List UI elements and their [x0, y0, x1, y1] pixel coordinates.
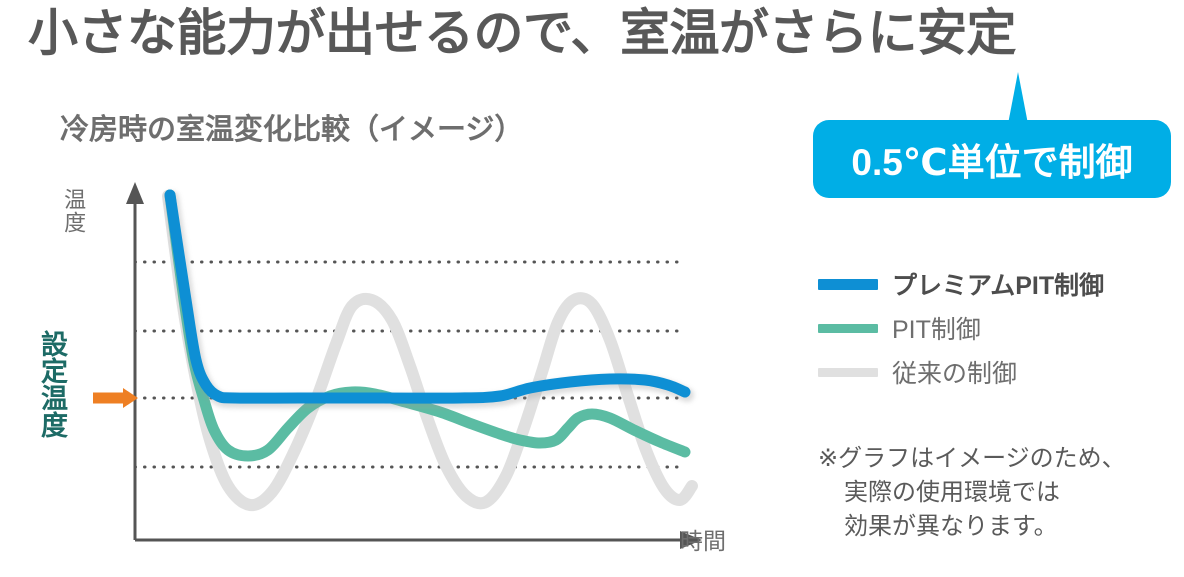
badge-body: 0.5℃単位で制御 — [813, 120, 1171, 198]
note-line-1: ※グラフはイメージのため、 — [818, 442, 1168, 476]
legend-color-swatch — [818, 324, 878, 333]
note-line-2: 実際の使用環境では — [818, 476, 1168, 510]
legend-color-swatch — [818, 279, 878, 290]
series-shadow — [172, 198, 687, 401]
chart-canvas — [0, 160, 800, 577]
chart-legend: プレミアムPIT制御PIT制御従来の制御 — [818, 262, 1178, 394]
legend-item: 従来の制御 — [818, 350, 1178, 394]
legend-label: プレミアムPIT制御 — [892, 266, 1104, 302]
legend-label: 従来の制御 — [892, 354, 1017, 390]
temperature-comparison-chart: 温度 時間 設定温度 — [0, 160, 800, 577]
setpoint-temperature-label: 設定温度 — [38, 330, 65, 438]
note-line-3: 効果が異なります。 — [818, 510, 1168, 544]
legend-color-swatch — [818, 368, 878, 377]
page-title: 小さな能力が出せるので、室温がさらに安定 — [28, 6, 1016, 61]
y-axis-label: 温度 — [62, 188, 85, 234]
legend-label: PIT制御 — [892, 310, 981, 346]
badge-label: 0.5℃単位で制御 — [851, 132, 1132, 186]
chart-series-line — [170, 195, 685, 398]
infographic-root: 小さな能力が出せるので、室温がさらに安定 冷房時の室温変化比較（イメージ） 温度… — [0, 0, 1184, 577]
disclaimer-note: ※グラフはイメージのため、 実際の使用環境では 効果が異なります。 — [818, 442, 1168, 544]
callout-badge: 0.5℃単位で制御 — [813, 72, 1173, 202]
badge-pointer-icon — [998, 72, 1038, 124]
y-axis-arrow-icon — [126, 182, 144, 204]
setpoint-arrow-icon — [93, 388, 138, 408]
x-axis-label: 時間 — [680, 522, 726, 556]
chart-subtitle: 冷房時の室温変化比較（イメージ） — [60, 106, 523, 148]
legend-item: プレミアムPIT制御 — [818, 262, 1178, 306]
legend-item: PIT制御 — [818, 306, 1178, 350]
